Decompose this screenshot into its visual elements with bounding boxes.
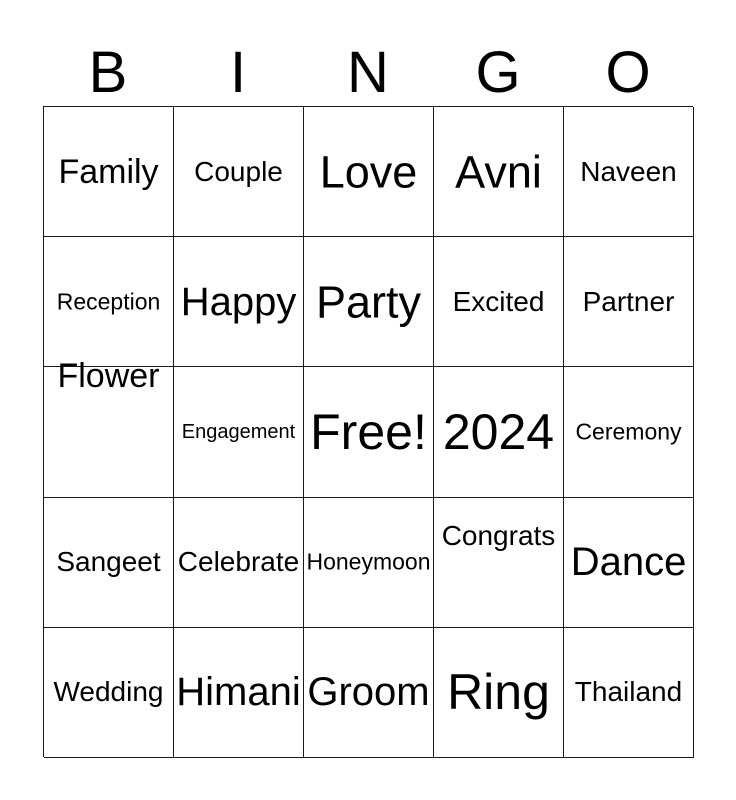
bingo-cell-o4[interactable]: Dance [564, 498, 694, 628]
bingo-cell-label: 2024 [434, 407, 563, 457]
bingo-cell-g4[interactable]: Congrats [434, 498, 564, 628]
header-letter-i: I [230, 44, 246, 102]
bingo-cell-label: Happy [174, 282, 303, 322]
bingo-cell-label: Partner [564, 288, 693, 316]
bingo-cell-o5[interactable]: Thailand [564, 628, 694, 758]
header-letter-b: B [89, 44, 128, 102]
bingo-cell-label: Reception [44, 290, 173, 313]
bingo-cell-label: Party [304, 279, 433, 324]
bingo-row: Sangeet Celebrate Honeymoon Congrats Dan… [44, 498, 693, 628]
bingo-cell-label: Congrats [434, 522, 563, 550]
header-cell-g: G [433, 26, 563, 102]
bingo-cell-n2[interactable]: Party [304, 237, 434, 367]
bingo-cell-label: Honeymoon [304, 551, 433, 574]
bingo-cell-free-space[interactable]: Free! [304, 367, 434, 497]
bingo-cell-b4[interactable]: Sangeet [44, 498, 174, 628]
bingo-cell-label: Avni [434, 149, 563, 194]
header-letter-o: O [605, 44, 650, 102]
bingo-cell-i2[interactable]: Happy [174, 237, 304, 367]
bingo-cell-b5[interactable]: Wedding [44, 628, 174, 758]
bingo-cell-label: Engagement [174, 422, 303, 442]
bingo-cell-label: Celebrate [174, 548, 303, 576]
header-cell-b: B [43, 26, 173, 102]
header-letter-n: N [347, 44, 389, 102]
bingo-cell-g5[interactable]: Ring [434, 628, 564, 758]
bingo-cell-o3[interactable]: Ceremony [564, 367, 694, 497]
bingo-cell-label: Free! [304, 407, 433, 457]
bingo-cell-o2[interactable]: Partner [564, 237, 694, 367]
bingo-grid: Family Couple Love Avni Naveen Reception… [43, 106, 693, 757]
bingo-row: Flower Engagement Free! 2024 Ceremony [44, 367, 693, 497]
bingo-cell-n5[interactable]: Groom [304, 628, 434, 758]
bingo-row: Reception Happy Party Excited Partner [44, 237, 693, 367]
bingo-cell-o1[interactable]: Naveen [564, 107, 694, 237]
bingo-cell-i5[interactable]: Himani [174, 628, 304, 758]
header-letter-g: G [475, 44, 520, 102]
header-cell-n: N [303, 26, 433, 102]
bingo-cell-g3[interactable]: 2024 [434, 367, 564, 497]
header-cell-i: I [173, 26, 303, 102]
bingo-cell-label: Family [44, 155, 173, 189]
header-cell-o: O [563, 26, 693, 102]
bingo-cell-label: Groom [304, 672, 433, 712]
bingo-cell-label: Ceremony [564, 420, 693, 443]
bingo-cell-label: Couple [174, 158, 303, 186]
bingo-cell-g1[interactable]: Avni [434, 107, 564, 237]
bingo-cell-label: Himani [174, 672, 303, 712]
bingo-row: Wedding Himani Groom Ring Thailand [44, 628, 693, 758]
bingo-card: B I N G O Family Couple Love [0, 0, 736, 800]
bingo-cell-b2[interactable]: Reception [44, 237, 174, 367]
bingo-row: Family Couple Love Avni Naveen [44, 107, 693, 237]
bingo-cell-b1[interactable]: Family [44, 107, 174, 237]
bingo-cell-label: Wedding [44, 678, 173, 706]
bingo-cell-label: Naveen [564, 158, 693, 186]
bingo-cell-n1[interactable]: Love [304, 107, 434, 237]
bingo-cell-label: Dance [564, 542, 693, 582]
bingo-cell-n4[interactable]: Honeymoon [304, 498, 434, 628]
bingo-cell-i1[interactable]: Couple [174, 107, 304, 237]
bingo-cell-label: Sangeet [44, 548, 173, 576]
bingo-cell-label: Thailand [564, 678, 693, 706]
bingo-cell-label: Love [304, 149, 433, 194]
bingo-cell-label: Flower [44, 359, 173, 393]
bingo-cell-label: Excited [434, 288, 563, 316]
bingo-cell-g2[interactable]: Excited [434, 237, 564, 367]
bingo-cell-i4[interactable]: Celebrate [174, 498, 304, 628]
bingo-cell-label: Ring [434, 667, 563, 717]
bingo-cell-i3[interactable]: Engagement [174, 367, 304, 497]
bingo-header: B I N G O [43, 26, 693, 102]
bingo-cell-b3[interactable]: Flower [44, 367, 174, 497]
